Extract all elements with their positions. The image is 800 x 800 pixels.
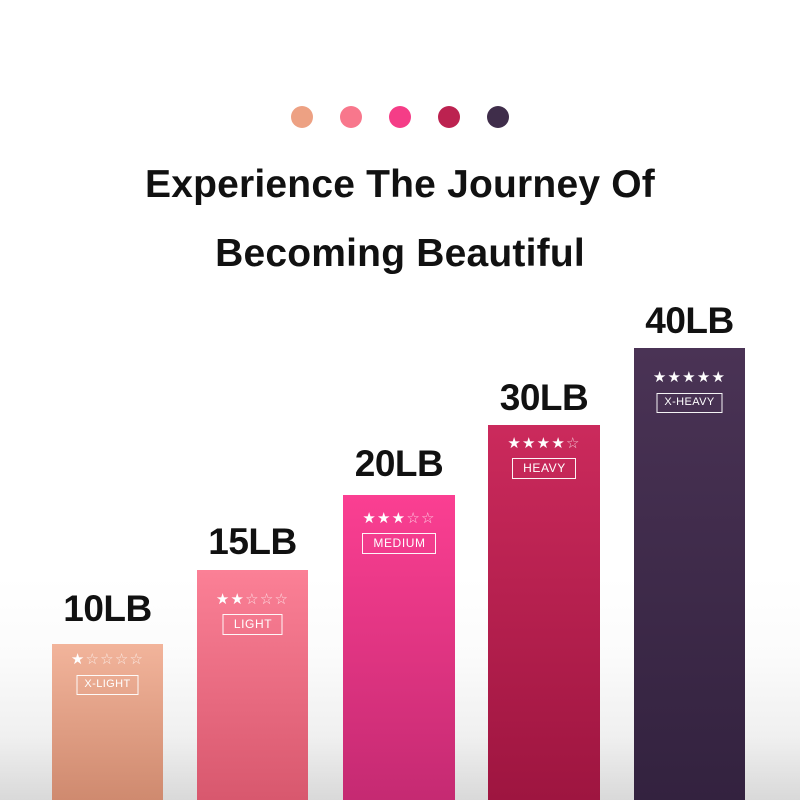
bar-10lb-level-tag: X-LIGHT bbox=[76, 675, 138, 695]
star-filled-icon: ★ bbox=[522, 435, 537, 452]
star-filled-icon: ★ bbox=[537, 435, 552, 452]
star-filled-icon: ★ bbox=[682, 369, 697, 386]
bar-40lb-level-tag: X-HEAVY bbox=[656, 393, 722, 413]
bar-10lb-badge: ★☆☆☆☆X-LIGHT bbox=[52, 652, 163, 695]
star-empty-icon: ☆ bbox=[566, 435, 581, 452]
bar-15lb-weight-label: 15LB bbox=[208, 521, 296, 563]
star-filled-icon: ★ bbox=[551, 435, 566, 452]
star-empty-icon: ☆ bbox=[245, 591, 260, 608]
star-empty-icon: ☆ bbox=[129, 651, 144, 668]
star-filled-icon: ★ bbox=[377, 510, 392, 527]
resistance-level-bar-chart: ★☆☆☆☆X-LIGHT10LB★★☆☆☆LIGHT15LB★★★☆☆MEDIU… bbox=[0, 0, 800, 800]
bar-40lb-fill bbox=[634, 348, 745, 800]
bar-40lb-badge: ★★★★★X-HEAVY bbox=[634, 370, 745, 413]
bar-20lb-level-tag: MEDIUM bbox=[362, 533, 435, 554]
bar-30lb-badge: ★★★★☆HEAVY bbox=[488, 436, 600, 479]
star-filled-icon: ★ bbox=[653, 369, 668, 386]
star-empty-icon: ☆ bbox=[421, 510, 436, 527]
bar-40lb-weight-label: 40LB bbox=[645, 300, 733, 342]
bar-30lb-level-tag: HEAVY bbox=[512, 458, 576, 479]
bar-15lb[interactable]: ★★☆☆☆LIGHT bbox=[197, 570, 308, 800]
bar-30lb-weight-label: 30LB bbox=[500, 377, 588, 419]
star-filled-icon: ★ bbox=[507, 435, 522, 452]
bar-15lb-badge: ★★☆☆☆LIGHT bbox=[197, 592, 308, 635]
bar-30lb-fill bbox=[488, 425, 600, 800]
star-filled-icon: ★ bbox=[216, 591, 231, 608]
bar-20lb-star-rating: ★★★☆☆ bbox=[343, 511, 455, 526]
bar-30lb[interactable]: ★★★★☆HEAVY bbox=[488, 425, 600, 800]
star-empty-icon: ☆ bbox=[100, 651, 115, 668]
bar-20lb-badge: ★★★☆☆MEDIUM bbox=[343, 511, 455, 554]
bar-15lb-star-rating: ★★☆☆☆ bbox=[197, 592, 308, 607]
bar-30lb-star-rating: ★★★★☆ bbox=[488, 436, 600, 451]
bar-40lb[interactable]: ★★★★★X-HEAVY bbox=[634, 348, 745, 800]
star-filled-icon: ★ bbox=[71, 651, 86, 668]
product-infographic: Experience The Journey Of Becoming Beaut… bbox=[0, 0, 800, 800]
bar-10lb[interactable]: ★☆☆☆☆X-LIGHT bbox=[52, 644, 163, 800]
star-filled-icon: ★ bbox=[711, 369, 726, 386]
star-empty-icon: ☆ bbox=[115, 651, 130, 668]
star-empty-icon: ☆ bbox=[86, 651, 101, 668]
bar-15lb-level-tag: LIGHT bbox=[223, 614, 282, 635]
star-filled-icon: ★ bbox=[392, 510, 407, 527]
star-filled-icon: ★ bbox=[697, 369, 712, 386]
star-empty-icon: ☆ bbox=[274, 591, 289, 608]
star-filled-icon: ★ bbox=[231, 591, 246, 608]
bar-10lb-weight-label: 10LB bbox=[63, 588, 151, 630]
bar-20lb-weight-label: 20LB bbox=[355, 443, 443, 485]
bar-10lb-star-rating: ★☆☆☆☆ bbox=[52, 652, 163, 667]
star-empty-icon: ☆ bbox=[260, 591, 275, 608]
star-filled-icon: ★ bbox=[362, 510, 377, 527]
star-filled-icon: ★ bbox=[668, 369, 683, 386]
star-empty-icon: ☆ bbox=[406, 510, 421, 527]
bar-20lb[interactable]: ★★★☆☆MEDIUM bbox=[343, 495, 455, 800]
bar-40lb-star-rating: ★★★★★ bbox=[634, 370, 745, 385]
